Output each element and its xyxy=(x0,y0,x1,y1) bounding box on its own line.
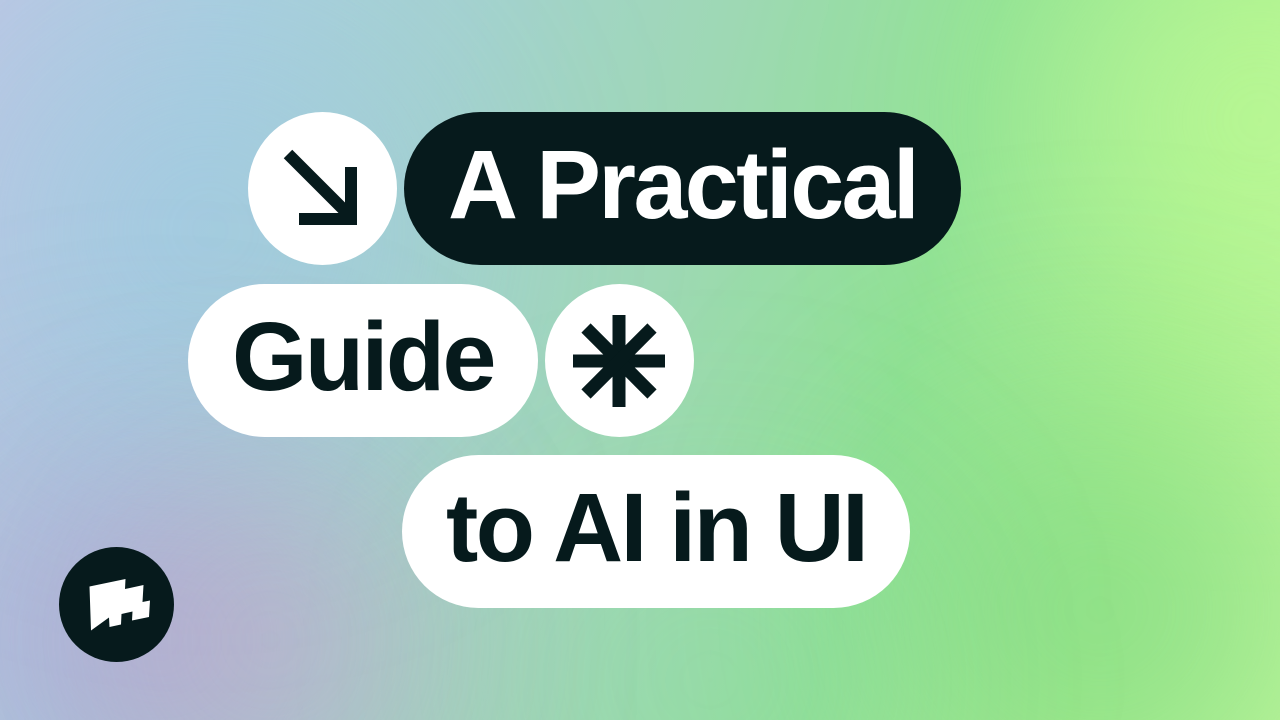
brand-logo-badge xyxy=(59,547,174,662)
headline-pill-label: to AI in UI xyxy=(402,479,910,576)
headline-pill-label: Guide xyxy=(188,308,538,405)
headline-block: A Practical Guide xyxy=(0,0,1280,720)
poster-canvas: A Practical Guide xyxy=(0,0,1280,720)
headline-pill-to-ai-in-ui: to AI in UI xyxy=(402,455,910,608)
headline-pill-guide: Guide xyxy=(188,284,538,437)
arrow-down-right-icon xyxy=(248,112,397,265)
headline-row-1: A Practical xyxy=(248,112,961,265)
headline-pill-a-practical: A Practical xyxy=(404,112,961,265)
headline-row-2: Guide xyxy=(188,284,694,437)
lightning-flag-logo-icon xyxy=(81,572,153,638)
headline-pill-label: A Practical xyxy=(404,136,961,233)
headline-row-3: to AI in UI xyxy=(402,455,910,608)
asterisk-icon xyxy=(545,284,694,437)
